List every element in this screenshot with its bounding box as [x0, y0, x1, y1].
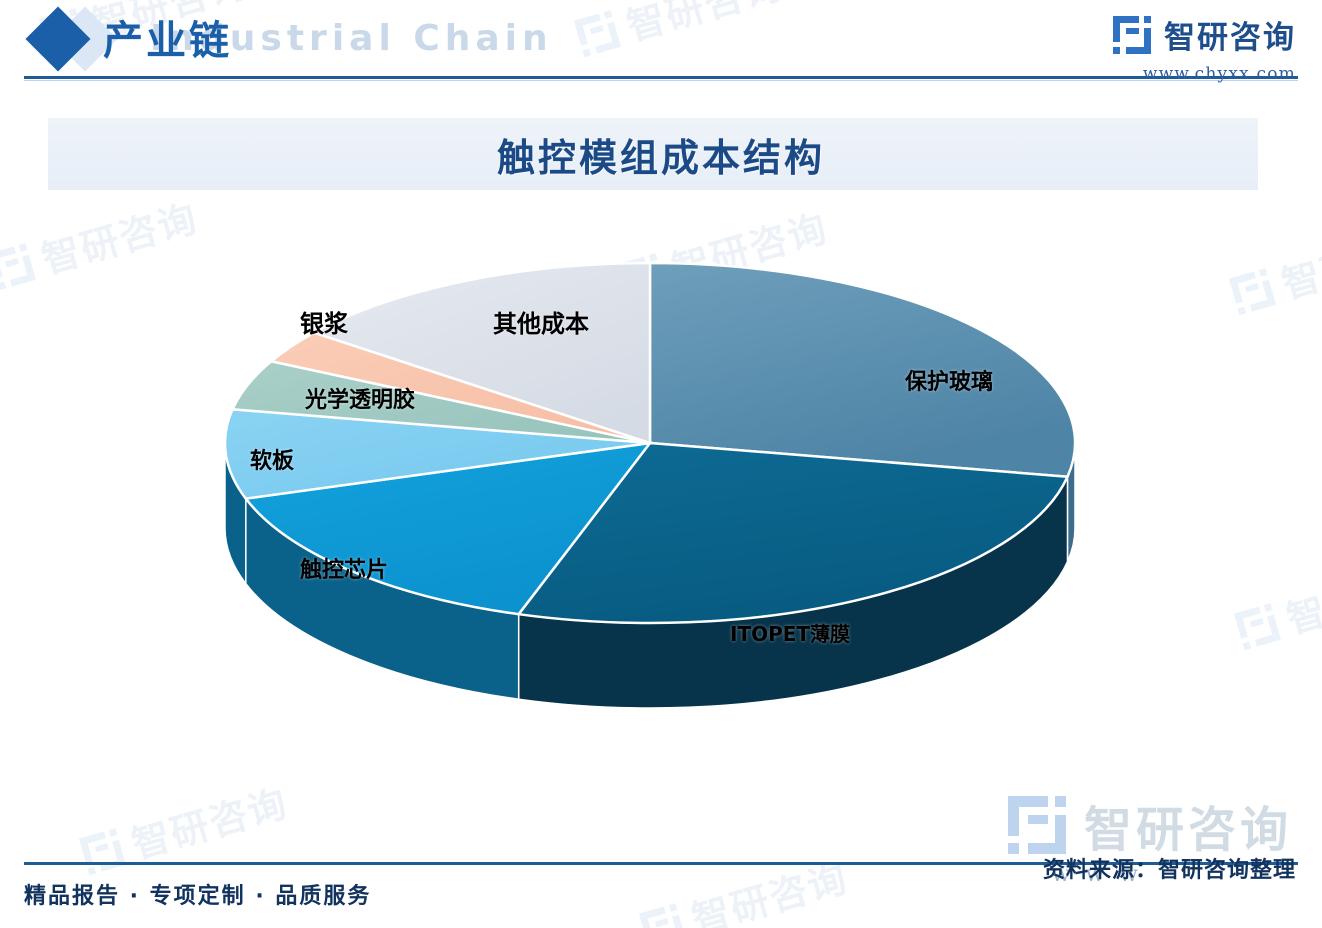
pie-label-yinjiang: 银浆: [300, 304, 348, 339]
zhiyan-logo-icon: [639, 902, 688, 928]
brand-block: 智研咨询 www.chyxx.com: [1113, 12, 1296, 84]
zhiyan-logo-icon: [79, 827, 128, 875]
page-header: Industrial Chain 产业链 智研咨询 www.chyxx.com: [0, 0, 1322, 92]
watermark-tile: 智研咨询: [636, 847, 853, 928]
pie-label-qita-chengben: 其他成本: [493, 304, 589, 339]
footer-brand-name: 智研咨询: [1084, 790, 1292, 860]
pie-label-guangxue-toumingjiao: 光学透明胶: [305, 382, 415, 414]
pie-label-baohu-boli: 保护玻璃: [905, 364, 993, 396]
header-rule: [24, 76, 1298, 79]
watermark-text: 智研咨询: [685, 847, 854, 928]
pie-chart-svg: [0, 200, 1322, 820]
section-title: 产业链: [103, 8, 232, 66]
source-note: 资料来源：智研咨询整理: [1043, 852, 1296, 884]
pie-label-ruanban: 软板: [250, 443, 294, 475]
header-rule-secondary: [24, 80, 1298, 81]
chart-title: 触控模组成本结构: [0, 118, 1322, 190]
brand-url: www.chyxx.com: [1113, 64, 1296, 84]
zhiyan-logo-icon: [1008, 796, 1070, 854]
pie-label-itopet-bomo: ITOPET薄膜: [730, 618, 850, 647]
slide-page: 智研咨询 智研咨询 智研咨询 智研咨询 智研咨询: [0, 0, 1322, 928]
pie-label-chukong-xinpian: 触控芯片: [300, 552, 388, 584]
footer-brand-watermark: 智研咨询: [1008, 790, 1292, 860]
pie-chart: 保护玻璃 ITOPET薄膜 触控芯片 软板 光学透明胶 银浆 其他成本: [0, 200, 1322, 820]
zhiyan-logo-icon: [1113, 16, 1153, 54]
pie-slice-保护玻璃: [650, 263, 1075, 477]
footer-tagline: 精品报告 · 专项定制 · 品质服务: [24, 878, 371, 910]
brand-name: 智研咨询: [1164, 12, 1296, 57]
